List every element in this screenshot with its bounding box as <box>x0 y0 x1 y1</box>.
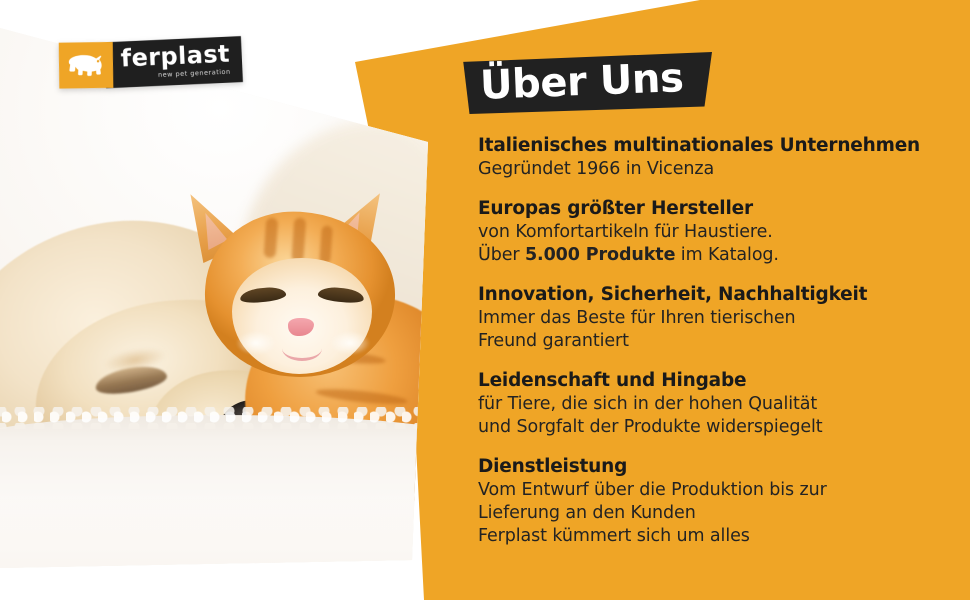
ferplast-logo[interactable]: ferplast new pet generation <box>58 37 243 89</box>
about-block-line: Immer das Beste für Ihren tierischen <box>478 307 956 330</box>
about-block-line: und Sorgfalt der Produkte widerspiegelt <box>478 416 956 439</box>
about-block-line: Vom Entwurf über die Produktion bis zur <box>478 479 956 502</box>
photo-bottom-fade <box>0 480 440 600</box>
about-block-heading: Italienisches multinationales Unternehme… <box>478 134 956 158</box>
logo-wordmark-block: ferplast new pet generation <box>104 36 243 88</box>
about-block-heading: Dienstleistung <box>478 455 956 479</box>
about-block-heading: Innovation, Sicherheit, Nachhaltigkeit <box>478 283 956 307</box>
about-block-line: Gegründet 1966 in Vicenza <box>478 158 956 181</box>
about-block-line: Über 5.000 Produkte im Katalog. <box>478 244 956 267</box>
about-block: Innovation, Sicherheit, NachhaltigkeitIm… <box>478 283 956 353</box>
about-block-line: Lieferung an den Kunden <box>478 502 956 525</box>
pet-silhouette-icon <box>59 42 114 89</box>
about-block-line: von Komfortartikeln für Haustiere. <box>478 221 956 244</box>
about-block-heading: Europas größter Hersteller <box>478 197 956 221</box>
kitten-cheek-left <box>228 326 284 360</box>
about-block-line: Freund garantiert <box>478 330 956 353</box>
about-block-heading: Leidenschaft und Hingabe <box>478 369 956 393</box>
about-block: DienstleistungVom Entwurf über die Produ… <box>478 455 956 548</box>
about-block: Europas größter Herstellervon Komfortart… <box>478 197 956 267</box>
about-block-line: Ferplast kümmert sich um alles <box>478 525 956 548</box>
about-block: Leidenschaft und Hingabefür Tiere, die s… <box>478 369 956 439</box>
about-us-banner: ferplast new pet generation Über Uns Ita… <box>0 0 970 600</box>
about-block-emphasis: 5.000 Produkte <box>525 245 675 265</box>
about-content: Italienisches multinationales Unternehme… <box>478 134 956 548</box>
kitten-cheek-right <box>322 326 378 360</box>
about-block-line: für Tiere, die sich in der hohen Qualitä… <box>478 393 956 416</box>
kitten-mouth <box>282 336 322 361</box>
about-block: Italienisches multinationales Unternehme… <box>478 134 956 181</box>
page-title: Über Uns <box>479 54 684 110</box>
